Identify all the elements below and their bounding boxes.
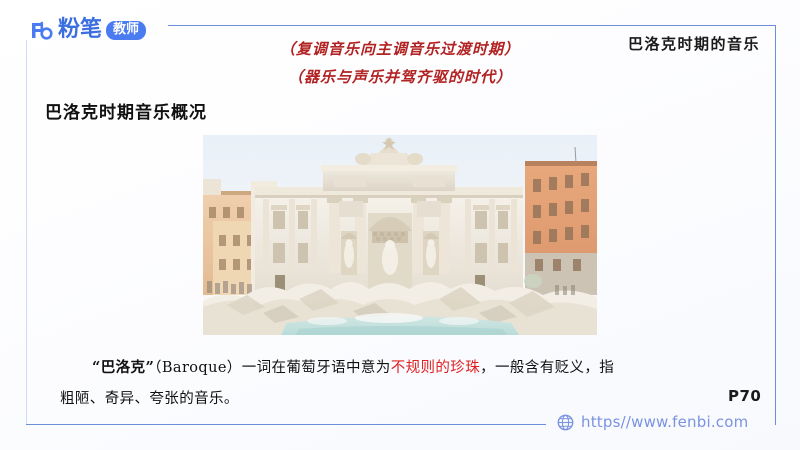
brand-logo: 粉笔 教师 xyxy=(28,16,146,44)
trevi-fountain-photo xyxy=(203,135,597,335)
body-text-segment-1: （Baroque）一词在葡萄牙语中意为 xyxy=(154,360,391,376)
red-annotation-line-2: （器乐与声乐并驾齐驱的时代） xyxy=(0,64,800,90)
globe-icon xyxy=(557,414,574,431)
body-paragraph: “巴洛克”（Baroque）一词在葡萄牙语中意为不规则的珍珠，一般含有贬义，指 … xyxy=(60,352,720,415)
brand-logo-text: 粉笔 xyxy=(58,17,102,43)
irregular-pearl-highlight: 不规则的珍珠 xyxy=(391,360,480,376)
body-text-segment-2: ，一般含有贬义，指 xyxy=(480,360,614,376)
brand-logo-badge: 教师 xyxy=(106,21,146,40)
body-paragraph-line-1: “巴洛克”（Baroque）一词在葡萄牙语中意为不规则的珍珠，一般含有贬义，指 xyxy=(60,352,720,384)
page-number: P70 xyxy=(728,387,761,405)
bottom-divider-line xyxy=(26,424,546,425)
header-title: 巴洛克时期的音乐 xyxy=(628,33,760,54)
top-divider-line xyxy=(168,25,775,26)
slide-canvas: 粉笔 教师 巴洛克时期的音乐 （复调音乐向主调音乐过渡时期） （器乐与声乐并驾齐… xyxy=(0,0,800,450)
footer-url-text[interactable]: https//www.fenbi.com xyxy=(581,413,748,431)
footer-url-block[interactable]: https//www.fenbi.com xyxy=(557,411,748,433)
left-accent-line xyxy=(26,40,27,424)
right-border-line xyxy=(775,25,776,425)
section-heading: 巴洛克时期音乐概况 xyxy=(45,98,207,123)
baroque-term: “巴洛克” xyxy=(92,359,154,376)
fb-logo-icon xyxy=(28,17,54,43)
